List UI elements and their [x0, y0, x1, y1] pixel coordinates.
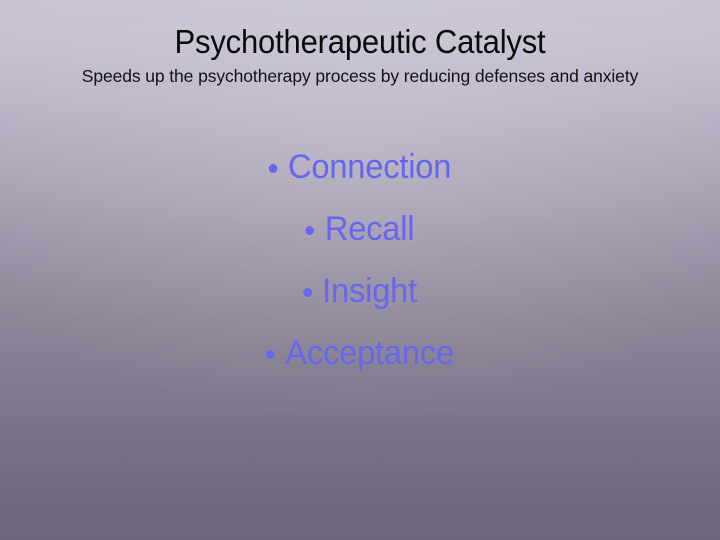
page-title: Psychotherapeutic Catalyst: [22, 22, 699, 62]
slide-subtitle: Speeds up the psychotherapy process by r…: [60, 65, 660, 88]
bullet-item-label: Acceptance: [285, 334, 454, 372]
bullet-item-label: Recall: [325, 210, 415, 248]
bullet-dot-icon: [266, 350, 275, 359]
bullet-item-label: Insight: [322, 272, 417, 310]
bullet-list: Connection Recall Insight Acceptance: [0, 136, 720, 384]
presentation-slide: Psychotherapeutic Catalyst Speeds up the…: [0, 0, 720, 540]
list-item: Acceptance: [14, 322, 705, 384]
bullet-item-label: Connection: [288, 148, 451, 186]
list-item: Connection: [14, 136, 705, 198]
bullet-dot-icon: [303, 288, 312, 297]
list-item: Insight: [14, 260, 705, 322]
slide-title-block: Psychotherapeutic Catalyst Speeds up the…: [0, 22, 720, 88]
list-item: Recall: [14, 198, 705, 260]
bullet-dot-icon: [306, 226, 315, 235]
bullet-dot-icon: [269, 164, 278, 173]
